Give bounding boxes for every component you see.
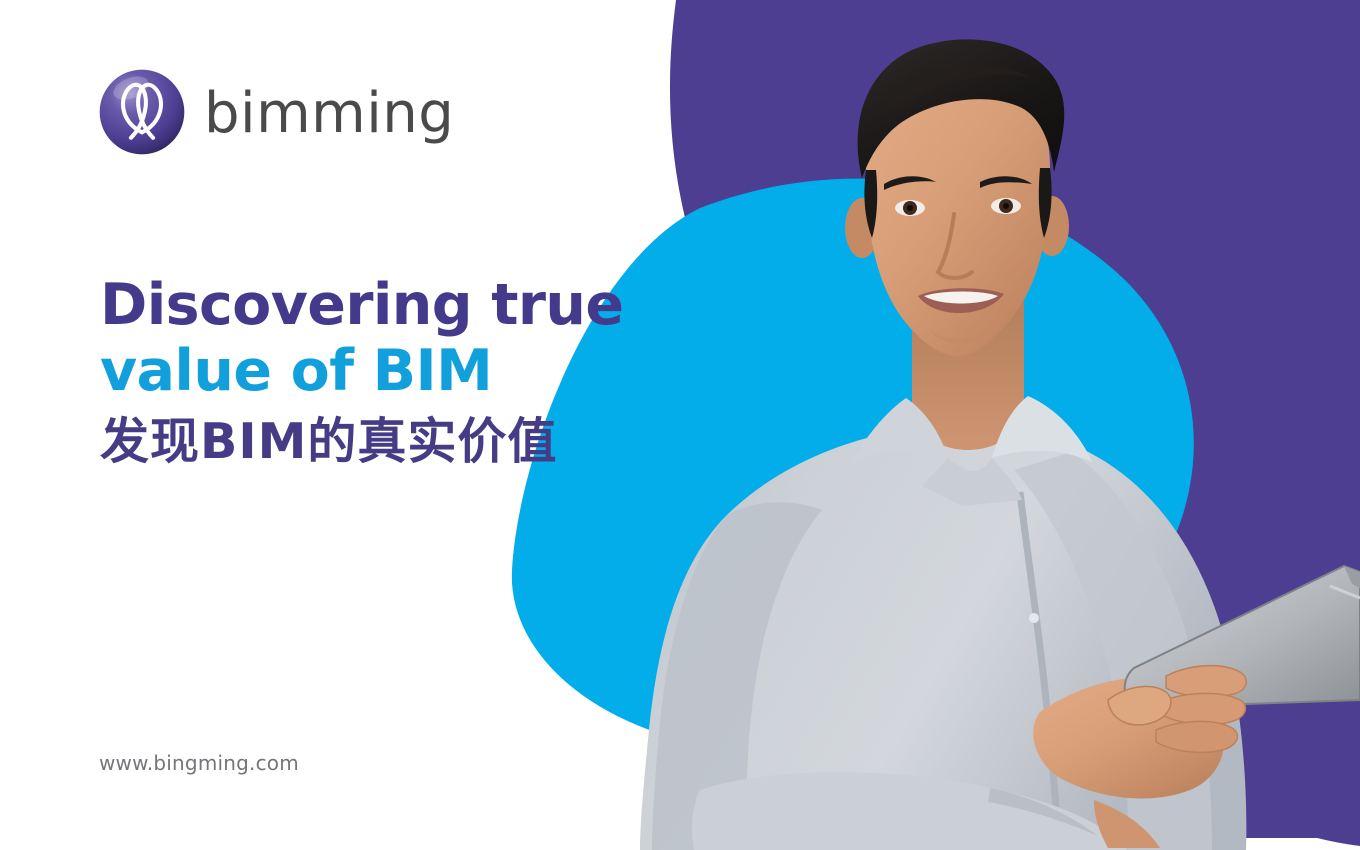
brand-wordmark: bimming	[204, 86, 454, 142]
headline-block: Discovering true value of BIM 发现BIM的真实价值	[100, 272, 660, 474]
brand-logo-lockup[interactable]: bimming	[96, 66, 454, 158]
bimming-sphere-logo-icon	[96, 66, 188, 158]
website-url[interactable]: www.bingming.com	[99, 751, 299, 775]
headline-line-2: value of BIM	[100, 338, 660, 404]
slide-canvas: bimming Discovering true value of BIM 发现…	[0, 0, 1360, 850]
headline-line-1: Discovering true	[100, 272, 660, 338]
headline-line-chinese: 发现BIM的真实价值	[100, 410, 660, 474]
